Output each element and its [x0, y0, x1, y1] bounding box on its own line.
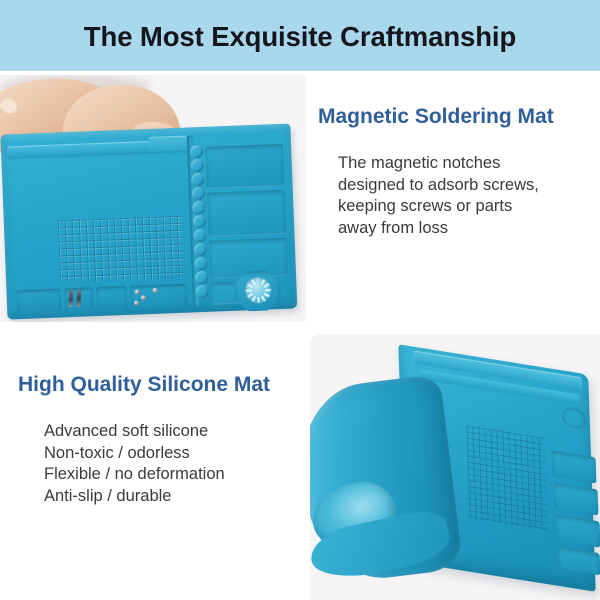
soldering-mat-flat: [0, 123, 299, 322]
mat-tray: [130, 284, 187, 308]
magnetic-body: The magnetic notches designed to adsorb …: [338, 153, 594, 239]
dial-tick: [265, 289, 271, 291]
page-title: The Most Exquisite Craftmanship: [84, 21, 516, 53]
silicone-body-line: Non-toxic / odorless: [44, 443, 304, 464]
magnetic-notch: [192, 201, 205, 214]
dial-tick: [264, 293, 270, 297]
silicone-body: Advanced soft silicone Non-toxic / odorl…: [44, 421, 304, 507]
screwdriver-bit: [68, 290, 73, 307]
magnetic-notch: [195, 271, 208, 284]
scene-hand-holding-mat: [0, 75, 306, 322]
silicone-heading: High Quality Silicone Mat: [18, 372, 304, 397]
magnetic-notch: [193, 229, 206, 242]
rolled-mat-grid-texture: [466, 426, 547, 531]
mat-compartment: [207, 190, 287, 237]
dial-tick: [257, 278, 259, 284]
screwdriver-bit: [76, 290, 81, 307]
magnetic-heading: Magnetic Soldering Mat: [318, 104, 594, 129]
dial-tick: [260, 279, 264, 285]
magnetic-notch: [192, 187, 205, 200]
magnetic-body-line: designed to adsorb screws,: [338, 175, 594, 196]
dial-tick: [261, 295, 266, 301]
magnetic-notch: [191, 173, 204, 186]
mat-tray: [16, 288, 61, 312]
magnetic-body-line: The magnetic notches: [338, 153, 594, 174]
mat-compartment: [205, 144, 285, 189]
magnetic-notch: [194, 257, 207, 270]
header-banner: The Most Exquisite Craftmanship: [0, 0, 600, 71]
magnetic-body-line: away from loss: [338, 218, 594, 239]
magnetic-notch: [191, 159, 204, 172]
dial-tick: [263, 283, 269, 288]
product-photo-hand-holding-mat: [0, 75, 306, 322]
dial-tick: [252, 296, 256, 302]
product-photo-rolled-mat: [310, 334, 600, 600]
mat-tray: [96, 286, 127, 309]
dial-tick: [247, 284, 253, 288]
dial-tick: [247, 293, 253, 298]
magnetic-notch: [194, 243, 207, 256]
magnetic-notch: [195, 285, 208, 298]
silicone-body-line: Anti-slip / durable: [44, 486, 304, 507]
silicone-body-line: Flexible / no deformation: [44, 464, 304, 485]
dial-tick: [251, 279, 256, 285]
silicone-body-line: Advanced soft silicone: [44, 421, 304, 442]
magnetic-notch: [190, 145, 203, 158]
mat-grid-texture: [58, 216, 184, 283]
magnetic-body-line: keeping screws or parts: [338, 196, 594, 217]
dial-tick: [258, 297, 260, 303]
dial-tick: [246, 290, 252, 292]
scene-rolled-mat: [310, 334, 600, 600]
mat-top-rail-secondary: [149, 135, 192, 152]
feature-block-silicone: High Quality Silicone Mat Advanced soft …: [18, 372, 304, 507]
feature-block-magnetic: Magnetic Soldering Mat The magnetic notc…: [318, 104, 594, 239]
magnetic-notch: [193, 215, 206, 228]
